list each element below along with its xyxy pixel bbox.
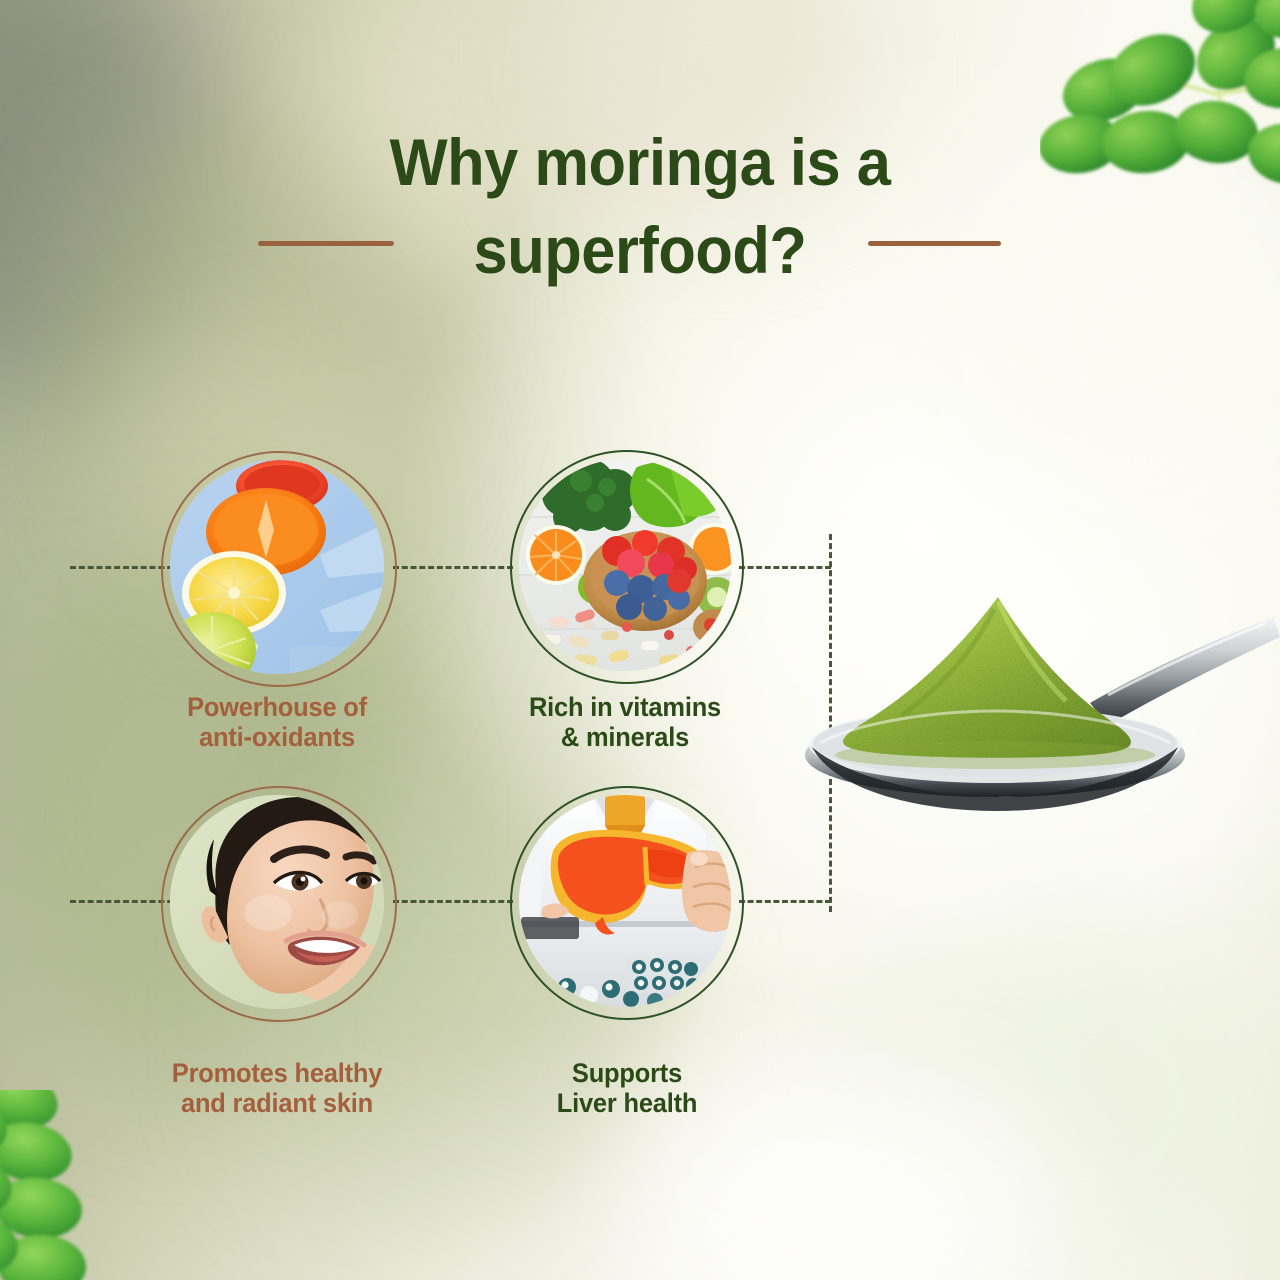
circle-image-vitamins <box>519 459 731 671</box>
label-line-1: Promotes healthy <box>128 1058 426 1088</box>
title-rule-left <box>258 241 394 246</box>
title-rule-right <box>868 241 1001 246</box>
label-line-2: anti-oxidants <box>133 722 421 752</box>
connector-line-middle-top <box>393 566 513 569</box>
page-title: Why moringa is a superfood? <box>0 118 1280 294</box>
circle-image-antioxidants <box>170 460 384 674</box>
label-line-2: & minerals <box>481 722 769 752</box>
feature-label-antioxidants: Powerhouse of anti-oxidants <box>133 692 421 752</box>
connector-line-right-top <box>739 566 831 569</box>
label-line-1: Supports <box>493 1058 762 1088</box>
label-line-2: Liver health <box>493 1088 762 1118</box>
infographic-canvas: Why moringa is a superfood? <box>0 0 1280 1280</box>
circle-image-liver <box>519 795 731 1007</box>
circle-image-skin <box>170 795 384 1009</box>
label-line-1: Powerhouse of <box>133 692 421 722</box>
feature-label-vitamins: Rich in vitamins & minerals <box>481 692 769 752</box>
title-line-2: superfood? <box>45 206 1235 294</box>
feature-label-liver: Supports Liver health <box>493 1058 762 1118</box>
feature-label-skin: Promotes healthy and radiant skin <box>128 1058 426 1118</box>
label-line-1: Rich in vitamins <box>481 692 769 722</box>
label-line-2: and radiant skin <box>128 1088 426 1118</box>
title-line-1: Why moringa is a <box>45 118 1235 206</box>
connector-line-middle-bottom <box>393 900 513 903</box>
connector-line-right-bottom <box>739 900 831 903</box>
spoon-with-moringa-powder <box>790 575 1280 840</box>
moringa-leaf-branch-bottom-left <box>0 1090 118 1280</box>
